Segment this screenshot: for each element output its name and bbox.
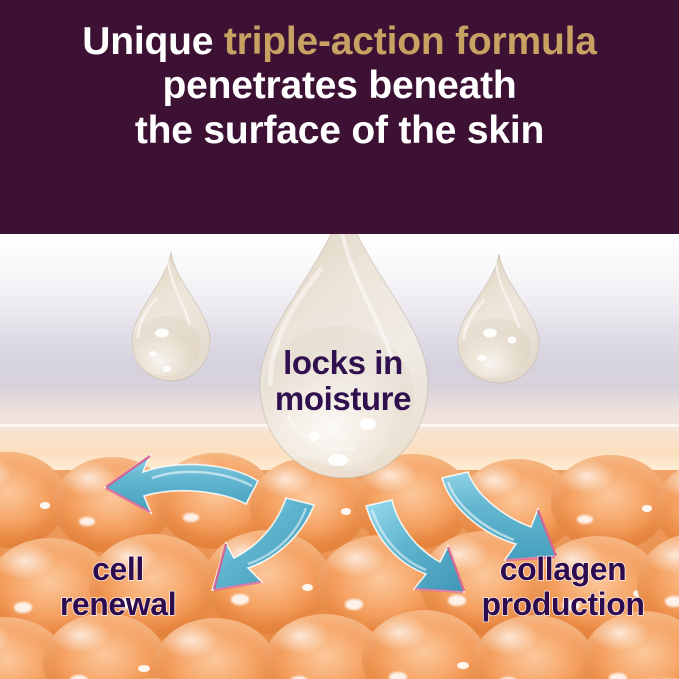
label-cell-renewal: cell renewal xyxy=(18,552,218,621)
header-banner: Unique triple-action formula penetrates … xyxy=(0,0,679,234)
headline-line3: the surface of the skin xyxy=(0,109,679,153)
label-cell-line2: renewal xyxy=(18,587,218,622)
label-collagen-production: collagen production xyxy=(452,552,674,621)
label-locks-in-moisture: locks in moisture xyxy=(243,345,443,416)
droplet-left xyxy=(124,250,218,384)
page-title: Unique triple-action formula penetrates … xyxy=(0,20,679,153)
infographic-canvas: Unique triple-action formula penetrates … xyxy=(0,0,679,679)
headline-prefix: Unique xyxy=(82,20,224,63)
label-collagen-line2: production xyxy=(452,587,674,622)
label-locks-line1: locks in xyxy=(243,345,443,381)
droplet-right xyxy=(450,252,547,385)
label-collagen-line1: collagen xyxy=(452,552,674,587)
headline-line2: penetrates beneath xyxy=(0,64,679,108)
label-cell-line1: cell xyxy=(18,552,218,587)
label-locks-line2: moisture xyxy=(243,381,443,417)
headline-highlight: triple-action formula xyxy=(224,20,597,63)
